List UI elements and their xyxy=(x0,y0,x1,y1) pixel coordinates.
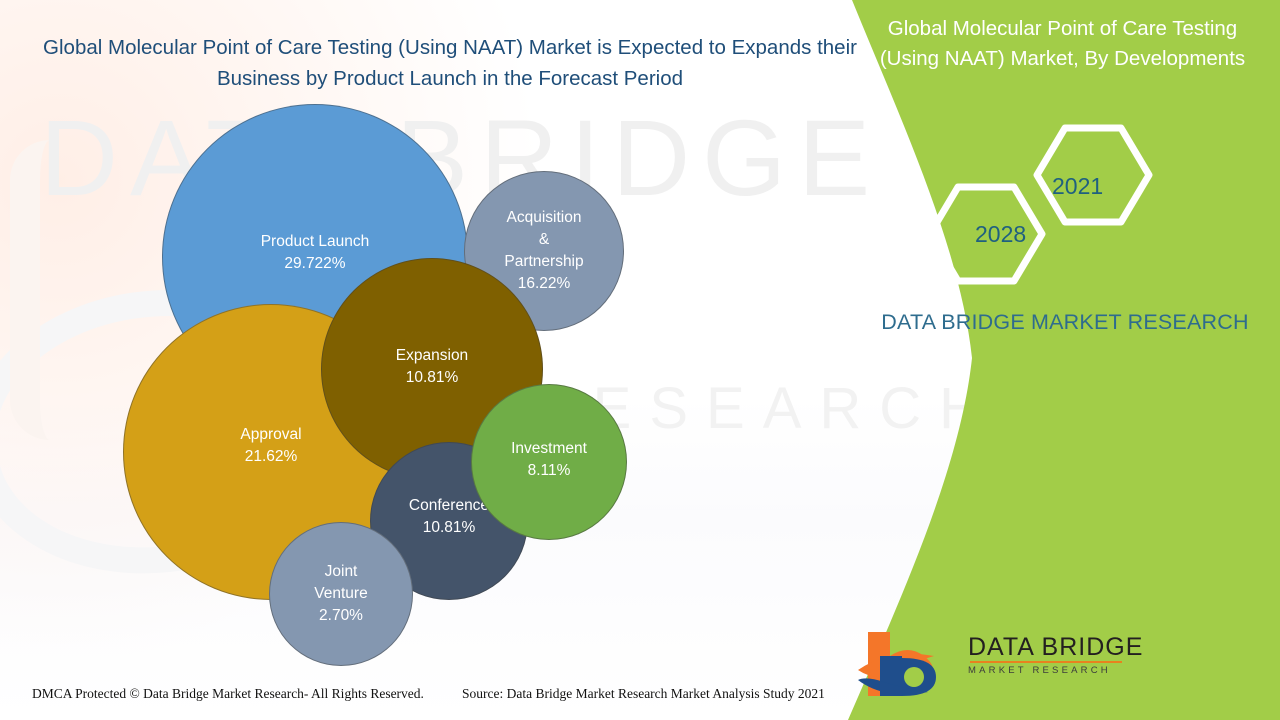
footer-source-text: Source: Data Bridge Market Research Mark… xyxy=(462,686,825,702)
bubble-label: Conference 10.81% xyxy=(409,495,489,539)
logo-mark-icon xyxy=(850,626,965,702)
logo-sub-text: MARKET RESEARCH xyxy=(968,665,1143,676)
bubble-label: Joint Venture 2.70% xyxy=(314,561,367,627)
bubble-label: Product Launch 29.722% xyxy=(261,231,370,275)
hexagon-2028-label: 2028 xyxy=(975,221,1026,248)
brand-name-text: DATA BRIDGE MARKET RESEARCH xyxy=(870,308,1260,337)
bubble-chart: Product Launch 29.722%Approval 21.62%Acq… xyxy=(0,0,880,690)
brand-panel: Global Molecular Point of Care Testing (… xyxy=(840,0,1280,720)
panel-content: Global Molecular Point of Care Testing (… xyxy=(840,0,1280,720)
bubble-label: Approval 21.62% xyxy=(240,424,301,468)
logo-main-text: DATA BRIDGE xyxy=(968,634,1143,660)
logo-wordmark: DATA BRIDGE MARKET RESEARCH xyxy=(968,634,1143,676)
data-bridge-logo: DATA BRIDGE MARKET RESEARCH xyxy=(850,626,1090,706)
bubble-joint-venture[interactable]: Joint Venture 2.70% xyxy=(269,522,413,666)
logo-divider xyxy=(970,661,1122,663)
footer: DMCA Protected © Data Bridge Market Rese… xyxy=(0,684,880,710)
bubble-investment[interactable]: Investment 8.11% xyxy=(471,384,627,540)
footer-dmca-text: DMCA Protected © Data Bridge Market Rese… xyxy=(32,686,424,702)
hexagon-group: 2021 2028 xyxy=(840,0,1280,720)
infographic-page: DATA BRIDGE MARKET RESEARCH Global Molec… xyxy=(0,0,1280,720)
hexagon-2021-label: 2021 xyxy=(1052,173,1103,200)
bubble-label: Expansion 10.81% xyxy=(396,345,468,389)
bubble-label: Acquisition & Partnership 16.22% xyxy=(504,207,583,295)
bubble-label: Investment 8.11% xyxy=(511,438,587,482)
